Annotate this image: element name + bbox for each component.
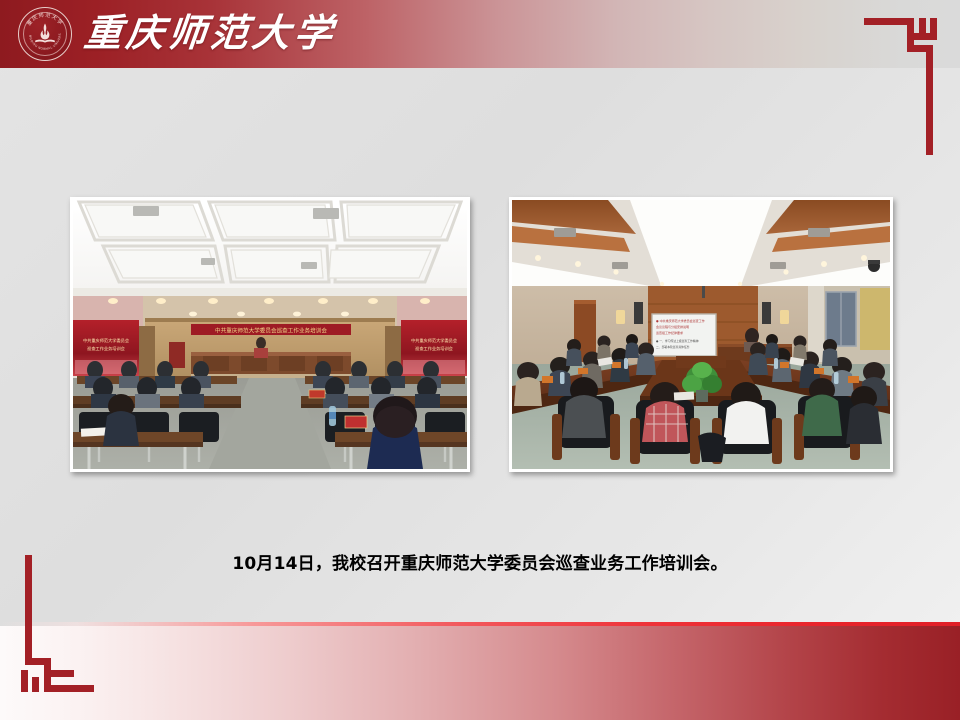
svg-text:中共重庆师范大学委员会巡查工作业务培训会: 中共重庆师范大学委员会巡查工作业务培训会	[215, 326, 327, 334]
university-name-wordmark: 重庆师范大学	[82, 15, 338, 53]
svg-text:会议议程与分组安排说明: 会议议程与分组安排说明	[656, 324, 689, 329]
university-seal-icon: 重庆师范大学 CHONGQING NORMAL UNIVERSITY	[18, 7, 72, 61]
photo-conference-room-discussion: ● 中共重庆师范大学委员会巡查工作 会议议程与分组安排说明 巡查组工作纪律要求 …	[509, 197, 893, 472]
svg-text:● 中共重庆师范大学委员会巡查工作: ● 中共重庆师范大学委员会巡查工作	[656, 318, 705, 323]
svg-text:中共重庆师范大学委员会: 中共重庆师范大学委员会	[83, 337, 130, 344]
header-banner: 重庆师范大学 CHONGQING NORMAL UNIVERSITY 重庆师范大…	[0, 0, 960, 68]
seal-flame-book-glyph	[32, 21, 58, 47]
conference-room-image: ● 中共重庆师范大学委员会巡查工作 会议议程与分组安排说明 巡查组工作纪律要求 …	[512, 200, 890, 469]
svg-text:巡查工作业务培训会: 巡查工作业务培训会	[87, 345, 126, 352]
chinese-corner-ornament-bottom-left	[16, 550, 94, 702]
header-brand-group: 重庆师范大学 CHONGQING NORMAL UNIVERSITY 重庆师范大…	[18, 0, 336, 68]
slide-root: 重庆师范大学 CHONGQING NORMAL UNIVERSITY 重庆师范大…	[0, 0, 960, 720]
svg-text:巡查组工作纪律要求: 巡查组工作纪律要求	[656, 330, 683, 335]
auditorium-image: 中共重庆师范大学委员会巡查工作业务培训会 中共重庆师范大学委员会 巡查工作业务培…	[73, 200, 467, 469]
svg-text:巡查工作业务培训会: 巡查工作业务培训会	[415, 345, 454, 352]
svg-text:重庆师范大学: 重庆师范大学	[25, 10, 66, 27]
bottom-band-fill	[0, 626, 960, 720]
slide-caption: 10月14日，我校召开重庆师范大学委员会巡查业务工作培训会。	[0, 549, 960, 574]
svg-text:● 一、学习传达上级巡查工作精神: ● 一、学习传达上级巡查工作精神	[656, 339, 699, 343]
photo-auditorium-training-session: 中共重庆师范大学委员会巡查工作业务培训会 中共重庆师范大学委员会 巡查工作业务培…	[70, 197, 470, 472]
svg-text:二、部署本轮巡查具体任务: 二、部署本轮巡查具体任务	[656, 345, 690, 349]
svg-text:中共重庆师范大学委员会: 中共重庆师范大学委员会	[411, 337, 458, 344]
svg-text:CHONGQING NORMAL UNIVERSITY: CHONGQING NORMAL UNIVERSITY	[19, 8, 62, 51]
bottom-gradient-band	[0, 622, 960, 720]
chinese-corner-ornament-top-right	[864, 8, 942, 160]
seal-ring-text: 重庆师范大学 CHONGQING NORMAL UNIVERSITY	[19, 8, 71, 60]
